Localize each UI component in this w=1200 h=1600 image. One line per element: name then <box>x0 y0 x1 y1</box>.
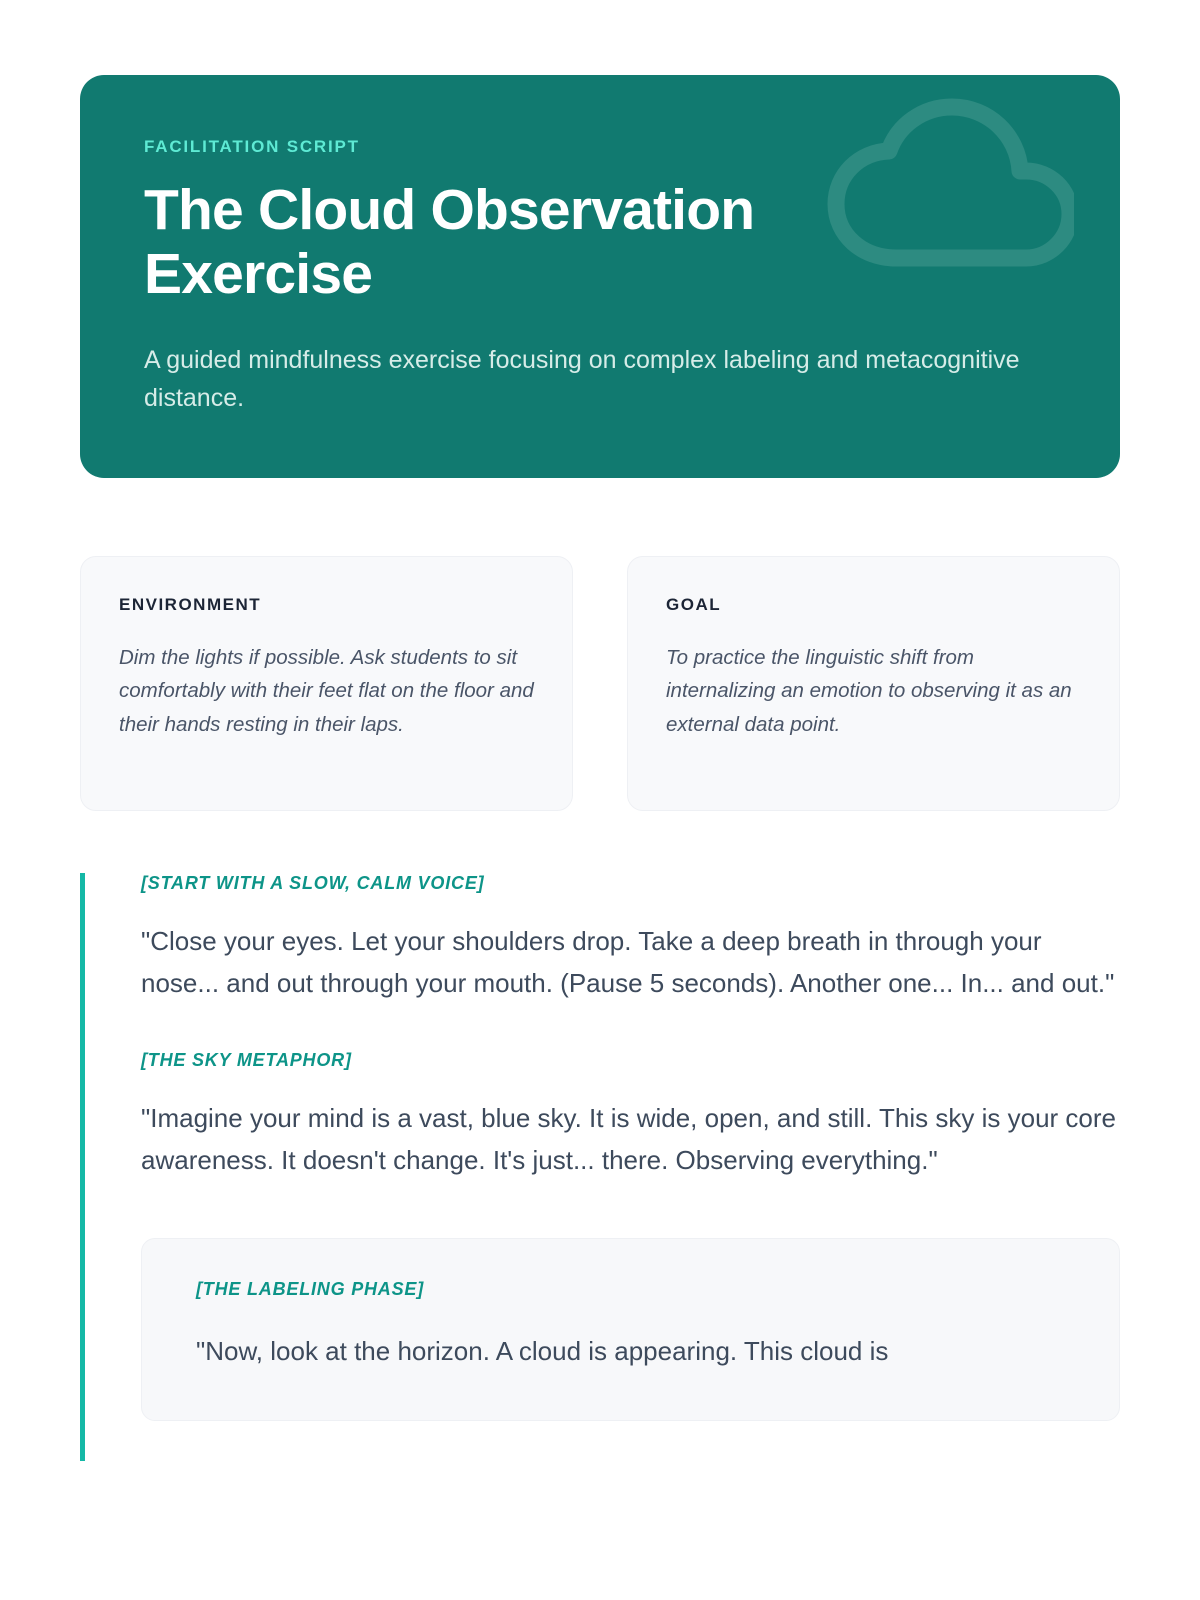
script-page: FACILITATION SCRIPT The Cloud Observatio… <box>0 75 1200 1600</box>
info-card-title: GOAL <box>666 595 1081 615</box>
info-card-body: Dim the lights if possible. Ask students… <box>119 641 534 741</box>
info-card-environment: ENVIRONMENT Dim the lights if possible. … <box>80 556 573 811</box>
hero-banner: FACILITATION SCRIPT The Cloud Observatio… <box>80 75 1120 478</box>
hero-eyebrow: FACILITATION SCRIPT <box>144 137 1056 157</box>
hero-subtitle: A guided mindfulness exercise focusing o… <box>144 341 1044 419</box>
info-card-goal: GOAL To practice the linguistic shift fr… <box>627 556 1120 811</box>
script-line: "Close your eyes. Let your shoulders dro… <box>141 920 1120 1004</box>
info-card-grid: ENVIRONMENT Dim the lights if possible. … <box>80 556 1120 811</box>
script-block-opening: [START WITH A SLOW, CALM VOICE] "Close y… <box>141 873 1120 1004</box>
script-block-sky-metaphor: [THE SKY METAPHOR] "Imagine your mind is… <box>141 1050 1120 1181</box>
stage-direction: [START WITH A SLOW, CALM VOICE] <box>141 873 1120 894</box>
info-card-title: ENVIRONMENT <box>119 595 534 615</box>
page-title: The Cloud Observation Exercise <box>144 179 884 307</box>
script-line: "Now, look at the horizon. A cloud is ap… <box>196 1330 1065 1372</box>
callout-labeling-phase: [THE LABELING PHASE] "Now, look at the h… <box>141 1238 1120 1421</box>
script-body: [START WITH A SLOW, CALM VOICE] "Close y… <box>80 873 1120 1461</box>
info-card-body: To practice the linguistic shift from in… <box>666 641 1081 741</box>
script-line: "Imagine your mind is a vast, blue sky. … <box>141 1097 1120 1181</box>
stage-direction: [THE LABELING PHASE] <box>196 1279 1065 1300</box>
stage-direction: [THE SKY METAPHOR] <box>141 1050 1120 1071</box>
